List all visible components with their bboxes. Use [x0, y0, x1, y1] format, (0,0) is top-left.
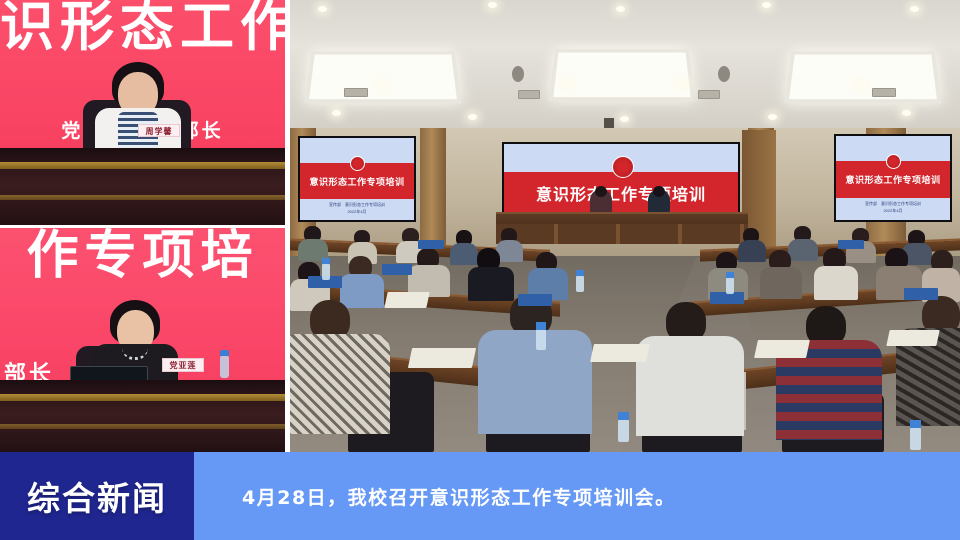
- handout-paper: [590, 344, 650, 362]
- category-badge[interactable]: 综合新闻: [0, 452, 194, 540]
- desk-name-card: [518, 294, 552, 306]
- attendee-body: [478, 330, 592, 434]
- category-label: 综合新闻: [27, 472, 167, 520]
- slide-right: 意识形态工作专项培训 宣传部 意识形态工作专项培训 2022年4月: [836, 136, 950, 220]
- desk-gold-rail-2: [0, 195, 285, 200]
- water-bottle: [910, 428, 921, 450]
- water-bottle-cap: [726, 272, 734, 278]
- ceiling-light-panel-left: [304, 51, 461, 103]
- speaker-portrait-bottom: 作专项培 部长 党亚莲: [0, 228, 285, 452]
- attendee-body: [450, 243, 478, 265]
- ceiling-downlight: [468, 114, 477, 120]
- ceiling-air-vent: [344, 88, 368, 97]
- ceiling-air-vent: [698, 90, 720, 99]
- caption-banner: 综合新闻 4月28日，我校召开意识形态工作专项培训会。: [0, 452, 960, 540]
- ceiling-light-panel-right: [784, 51, 941, 103]
- attendee-body: [814, 266, 858, 300]
- ceiling-downlight: [378, 82, 387, 88]
- attendee-body: [636, 336, 744, 436]
- attendee-body: [738, 240, 766, 262]
- right-screen-subtitle-2: 2022年4月: [836, 208, 950, 214]
- photo-collage: 识形态工作 党委 宣传部部长 周学馨: [0, 0, 960, 452]
- attendee-body: [290, 334, 390, 434]
- ceiling-speaker: [718, 66, 730, 82]
- ceiling-downlight: [616, 6, 625, 12]
- attendee-body: [340, 274, 384, 308]
- ceiling-downlight: [768, 114, 777, 120]
- left-screen-title: 意识形态工作专项培训: [300, 175, 414, 188]
- ceiling-downlight: [902, 110, 911, 116]
- slide-bottom-band: 宣传部 意识形态工作专项培训 2022年4月: [300, 199, 414, 220]
- right-screen-subtitle: 宣传部 意识形态工作专项培训: [836, 201, 950, 207]
- water-bottle: [726, 278, 734, 294]
- desk-name-card: [418, 240, 444, 249]
- desk-gold-rail: [0, 162, 285, 169]
- ceiling-light-panel-center: [549, 49, 696, 101]
- ceiling-downlight: [488, 2, 497, 8]
- school-emblem-right: [886, 154, 901, 169]
- right-projection-screen[interactable]: 意识形态工作专项培训 宣传部 意识形态工作专项培训 2022年4月: [834, 134, 952, 222]
- ceiling: [290, 0, 960, 132]
- caption-strip: 4月28日，我校召开意识形态工作专项培训会。: [194, 452, 960, 540]
- speaker-portrait-top: 识形态工作 党委 宣传部部长 周学馨: [0, 0, 285, 225]
- ceiling-downlight: [332, 110, 341, 116]
- left-screen-subtitle: 宣传部 意识形态工作专项培训: [300, 202, 414, 208]
- desk-name-card: [904, 288, 938, 300]
- caption-text: 4月28日，我校召开意识形态工作专项培训会。: [242, 483, 676, 510]
- water-bottle: [536, 330, 546, 350]
- ceiling-downlight: [318, 6, 327, 12]
- school-emblem-center: [612, 156, 634, 178]
- water-bottle-cap: [220, 350, 229, 356]
- head-table-front-panel: [496, 224, 748, 244]
- slide-left: 意识形态工作专项培训 宣传部 意识形态工作专项培训 2022年4月: [300, 138, 414, 220]
- ceiling-air-vent: [872, 88, 896, 97]
- right-screen-title: 意识形态工作专项培训: [836, 173, 950, 186]
- attendee-body: [760, 267, 802, 299]
- speaker-nameplate-top: 周学馨: [138, 124, 180, 137]
- head-table-presenter-right-head: [653, 186, 665, 197]
- water-bottle: [220, 356, 229, 378]
- head-table-presenter-left-head: [595, 186, 607, 197]
- attendee-body: [468, 267, 514, 301]
- ceiling-speaker: [512, 66, 524, 82]
- ceiling-air-vent: [518, 90, 540, 99]
- photo-divider-horizontal: [0, 225, 285, 228]
- left-photo-column: 识形态工作 党委 宣传部部长 周学馨: [0, 0, 285, 452]
- handout-paper: [886, 330, 939, 346]
- speaker-nameplate-bottom: 党亚莲: [162, 358, 204, 372]
- water-bottle-cap: [576, 270, 584, 276]
- desk-name-card: [382, 264, 412, 275]
- handout-paper: [754, 340, 810, 358]
- center-screen-title: 意识形态工作专项培训: [504, 181, 738, 205]
- conference-room-wide: 意识形态工作专项培训 宣传部 意识形态工作专项培训 2022年4月 意识形态工作…: [290, 0, 960, 452]
- school-emblem-left: [350, 156, 365, 171]
- desk-gold-rail-3: [0, 394, 285, 401]
- ceiling-downlight: [762, 2, 771, 8]
- attendee-body: [788, 239, 818, 261]
- slide-bottom-band-right: 宣传部 意识形态工作专项培训 2022年4月: [836, 198, 950, 220]
- ceiling-downlight: [562, 80, 571, 86]
- desk-gold-rail-4: [0, 424, 285, 429]
- desk-name-card: [838, 240, 864, 249]
- water-bottle: [576, 276, 584, 292]
- left-screen-subtitle-2: 2022年4月: [300, 209, 414, 215]
- handout-paper: [408, 348, 476, 368]
- stage-banner-headline-2: 作专项培: [0, 228, 285, 288]
- ceiling-downlight: [678, 80, 687, 86]
- water-bottle: [618, 420, 629, 442]
- news-card: 识形态工作 党委 宣传部部长 周学馨: [0, 0, 960, 540]
- water-bottle-cap: [618, 412, 629, 420]
- water-bottle-cap: [910, 420, 921, 428]
- left-projection-screen[interactable]: 意识形态工作专项培训 宣传部 意识形态工作专项培训 2022年4月: [298, 136, 416, 222]
- handout-paper: [384, 292, 429, 308]
- conference-desk: [0, 148, 285, 225]
- ceiling-downlight: [620, 116, 629, 122]
- conference-desk-2: [0, 380, 285, 452]
- attendee-body: [496, 240, 523, 262]
- ceiling-downlight: [910, 6, 919, 12]
- water-bottle: [322, 264, 330, 280]
- water-bottle-cap: [536, 322, 546, 330]
- water-bottle-cap: [322, 258, 330, 264]
- ceiling-downlight: [856, 82, 865, 88]
- stage-banner-headline: 识形态工作: [0, 0, 285, 60]
